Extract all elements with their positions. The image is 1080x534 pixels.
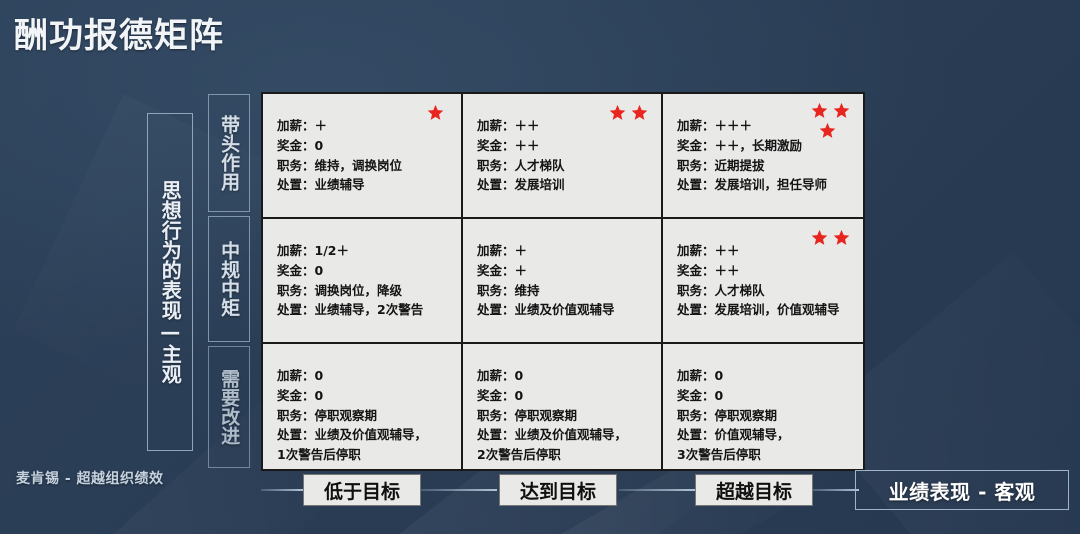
cell-text: 加薪：0 奖金：0 职务：停职观察期 处置：业绩及价值观辅导， 1次警告后停职 <box>277 366 453 465</box>
x-axis-category-2: 超越目标 <box>695 474 813 506</box>
axis-connector-line <box>421 489 497 491</box>
cell-text: 加薪：＋ 奖金：＋ 职务：维持 处置：业绩及价值观辅导 <box>477 241 653 320</box>
y-axis-title: 思想行为的表现—主观 <box>147 113 193 451</box>
axis-connector-line <box>261 489 303 491</box>
cell-star-rating <box>389 102 451 144</box>
x-axis-title: 业绩表现 - 客观 <box>855 470 1069 510</box>
y-axis-category-1: 中规中矩 <box>208 216 250 342</box>
matrix-cell-r1-c3: 加薪：＋＋＋ 奖金：＋＋，长期激励 职务：近期提拔 处置：发展培训，担任导师 <box>663 94 863 219</box>
star-icon <box>819 122 836 139</box>
matrix-cell-r2-c1: 加薪：1/2＋ 奖金：0 职务：调换岗位，降级 处置：业绩辅导，2次警告 <box>263 219 463 344</box>
star-icon <box>811 229 828 246</box>
slide-footer: 麦肯锡 - 超越组织绩效 <box>16 468 164 488</box>
slide-title: 酬功报德矩阵 <box>14 8 224 57</box>
x-axis-category-0: 低于目标 <box>303 474 421 506</box>
y-axis-category-0: 带头作用 <box>208 94 250 212</box>
y-axis-category-2: 需要改进 <box>208 346 250 468</box>
star-icon <box>427 104 444 121</box>
x-axis-category-1: 达到目标 <box>499 474 617 506</box>
axis-connector-line <box>619 489 695 491</box>
axis-connector-line <box>811 489 859 491</box>
cell-text: 加薪：0 奖金：0 职务：停职观察期 处置：业绩及价值观辅导， 2次警告后停职 <box>477 366 653 465</box>
matrix-cell-r3-c1: 加薪：0 奖金：0 职务：停职观察期 处置：业绩及价值观辅导， 1次警告后停职 <box>263 344 463 469</box>
matrix-cell-r3-c2: 加薪：0 奖金：0 职务：停职观察期 处置：业绩及价值观辅导， 2次警告后停职 <box>463 344 663 469</box>
cell-star-rating <box>589 102 651 144</box>
star-icon <box>811 102 828 119</box>
star-icon <box>631 104 648 121</box>
star-icon <box>833 102 850 119</box>
matrix-cell-r1-c2: 加薪：＋＋ 奖金：＋＋ 职务：人才梯队 处置：发展培训 <box>463 94 663 219</box>
cell-star-rating <box>791 102 853 144</box>
star-icon <box>833 229 850 246</box>
cell-text: 加薪：0 奖金：0 职务：停职观察期 处置：价值观辅导， 3次警告后停职 <box>677 366 855 465</box>
cell-star-rating <box>791 227 853 269</box>
matrix-cell-r2-c3: 加薪：＋＋ 奖金：＋＋ 职务：人才梯队 处置：发展培训，价值观辅导 <box>663 219 863 344</box>
matrix-cell-r2-c2: 加薪：＋ 奖金：＋ 职务：维持 处置：业绩及价值观辅导 <box>463 219 663 344</box>
cell-text: 加薪：1/2＋ 奖金：0 职务：调换岗位，降级 处置：业绩辅导，2次警告 <box>277 241 453 320</box>
reward-matrix: 加薪：＋ 奖金：0 职务：维持，调换岗位 处置：业绩辅导加薪：＋＋ 奖金：＋＋ … <box>261 92 865 471</box>
matrix-cell-r3-c3: 加薪：0 奖金：0 职务：停职观察期 处置：价值观辅导， 3次警告后停职 <box>663 344 863 469</box>
star-icon <box>609 104 626 121</box>
matrix-cell-r1-c1: 加薪：＋ 奖金：0 职务：维持，调换岗位 处置：业绩辅导 <box>263 94 463 219</box>
